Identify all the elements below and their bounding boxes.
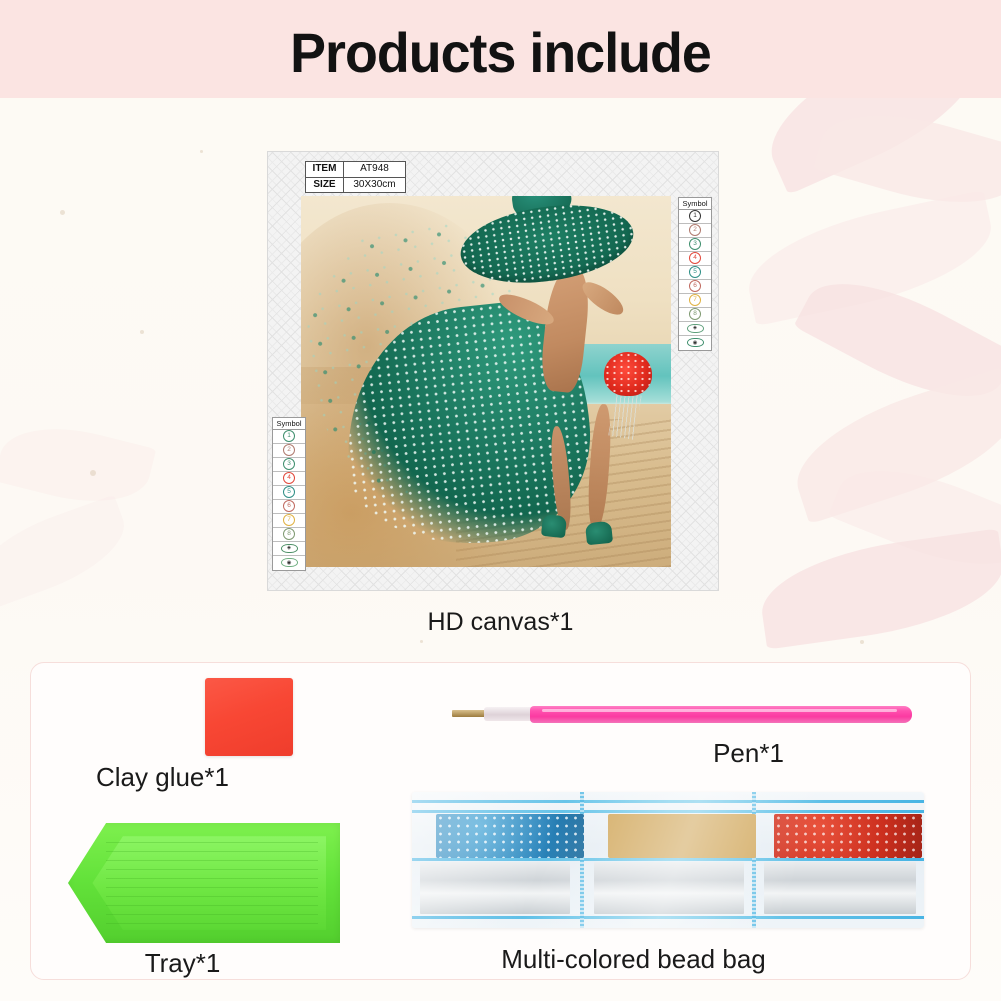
symbol-eye-1-icon: ◈ <box>281 544 298 553</box>
symbol-7-icon: 7 <box>689 294 701 306</box>
legend-item-4: 4 <box>679 252 711 266</box>
symbol-6-icon: 6 <box>283 500 295 512</box>
speck-decoration-icon <box>90 470 96 476</box>
legend-item-9: ◈ <box>679 322 711 336</box>
symbol-6-icon: 6 <box>689 280 701 292</box>
symbol-8-icon: 8 <box>689 308 701 320</box>
symbol-2-icon: 2 <box>283 444 295 456</box>
symbol-4-icon: 4 <box>689 252 701 264</box>
legend-item-1: 1 <box>679 210 711 224</box>
symbol-legend-right: Symbol 1 2 3 4 5 6 7 8 ◈ ◉ <box>678 197 712 351</box>
bead-bag-image <box>412 792 924 928</box>
shoe-left <box>540 514 566 539</box>
blue-beads-pouch <box>436 814 584 858</box>
bag-foil-label <box>764 862 916 914</box>
legend-item-5: 5 <box>679 266 711 280</box>
shoe-right <box>585 521 613 546</box>
page-title: Products include <box>20 20 981 85</box>
symbol-3-icon: 3 <box>283 458 295 470</box>
spec-value-item: AT948 <box>344 162 406 178</box>
red-beads-pouch <box>774 814 922 858</box>
bag-divider <box>752 792 756 928</box>
speck-decoration-icon <box>60 210 65 215</box>
table-row: SIZE 30X30cm <box>306 177 406 193</box>
legend-item-5: 5 <box>273 486 305 500</box>
legend-item-9: ◈ <box>273 542 305 556</box>
legend-item-7: 7 <box>273 514 305 528</box>
leaf-decoration-icon <box>0 413 156 517</box>
legend-header: Symbol <box>679 198 711 210</box>
pen-image <box>452 705 912 723</box>
legend-item-2: 2 <box>679 224 711 238</box>
pen-ferrule <box>484 707 534 721</box>
pen-caption: Pen*1 <box>248 738 1001 769</box>
bag-foil-label <box>594 862 744 914</box>
legend-item-10: ◉ <box>273 556 305 570</box>
bouquet-beads <box>604 352 652 397</box>
symbol-5-icon: 5 <box>283 486 295 498</box>
table-row: ITEM AT948 <box>306 162 406 178</box>
symbol-legend-left: Symbol 1 2 3 4 5 6 7 8 ◈ ◉ <box>272 417 306 571</box>
rose-bouquet <box>604 352 652 397</box>
symbol-1-icon: 1 <box>689 210 701 222</box>
bag-foil-label <box>420 862 570 914</box>
bag-divider <box>580 792 584 928</box>
legend-header: Symbol <box>273 418 305 430</box>
symbol-eye-2-icon: ◉ <box>281 558 298 567</box>
canvas-artwork <box>301 196 671 567</box>
bead-bag-caption: Multi-colored bead bag <box>133 944 1001 975</box>
spec-key-item: ITEM <box>306 162 344 178</box>
legend-item-10: ◉ <box>679 336 711 350</box>
symbol-3-icon: 3 <box>689 238 701 250</box>
bag-seam <box>412 858 924 861</box>
legend-item-2: 2 <box>273 444 305 458</box>
spec-value-size: 30X30cm <box>344 177 406 193</box>
speck-decoration-icon <box>860 640 864 644</box>
legend-item-8: 8 <box>273 528 305 542</box>
symbol-8-icon: 8 <box>283 528 295 540</box>
symbol-7-icon: 7 <box>283 514 295 526</box>
leaf-decoration-icon <box>0 495 136 612</box>
symbol-2-icon: 2 <box>689 224 701 236</box>
speck-decoration-icon <box>420 640 423 643</box>
speck-decoration-icon <box>140 330 144 334</box>
legend-item-7: 7 <box>679 294 711 308</box>
speck-decoration-icon <box>200 150 203 153</box>
legend-item-8: 8 <box>679 308 711 322</box>
pen-tip <box>452 710 486 717</box>
bag-seam <box>412 800 924 803</box>
symbol-4-icon: 4 <box>283 472 295 484</box>
legend-item-6: 6 <box>679 280 711 294</box>
symbol-5-icon: 5 <box>689 266 701 278</box>
gold-beads-pouch <box>608 814 756 858</box>
symbol-eye-2-icon: ◉ <box>687 338 704 347</box>
spec-key-size: SIZE <box>306 177 344 193</box>
legend-item-1: 1 <box>273 430 305 444</box>
spec-table: ITEM AT948 SIZE 30X30cm <box>305 161 406 193</box>
bag-seam <box>412 916 924 919</box>
symbol-eye-1-icon: ◈ <box>687 324 704 333</box>
pen-highlight <box>542 709 897 712</box>
legend-item-3: 3 <box>273 458 305 472</box>
legend-item-6: 6 <box>273 500 305 514</box>
tray-image <box>68 823 340 943</box>
bag-seam <box>412 810 924 813</box>
legend-item-4: 4 <box>273 472 305 486</box>
legend-item-3: 3 <box>679 238 711 252</box>
tray-grooves <box>106 842 318 924</box>
hd-canvas-image: ITEM AT948 SIZE 30X30cm <box>268 152 718 590</box>
hd-canvas-caption: HD canvas*1 <box>0 608 1001 637</box>
symbol-1-icon: 1 <box>283 430 295 442</box>
